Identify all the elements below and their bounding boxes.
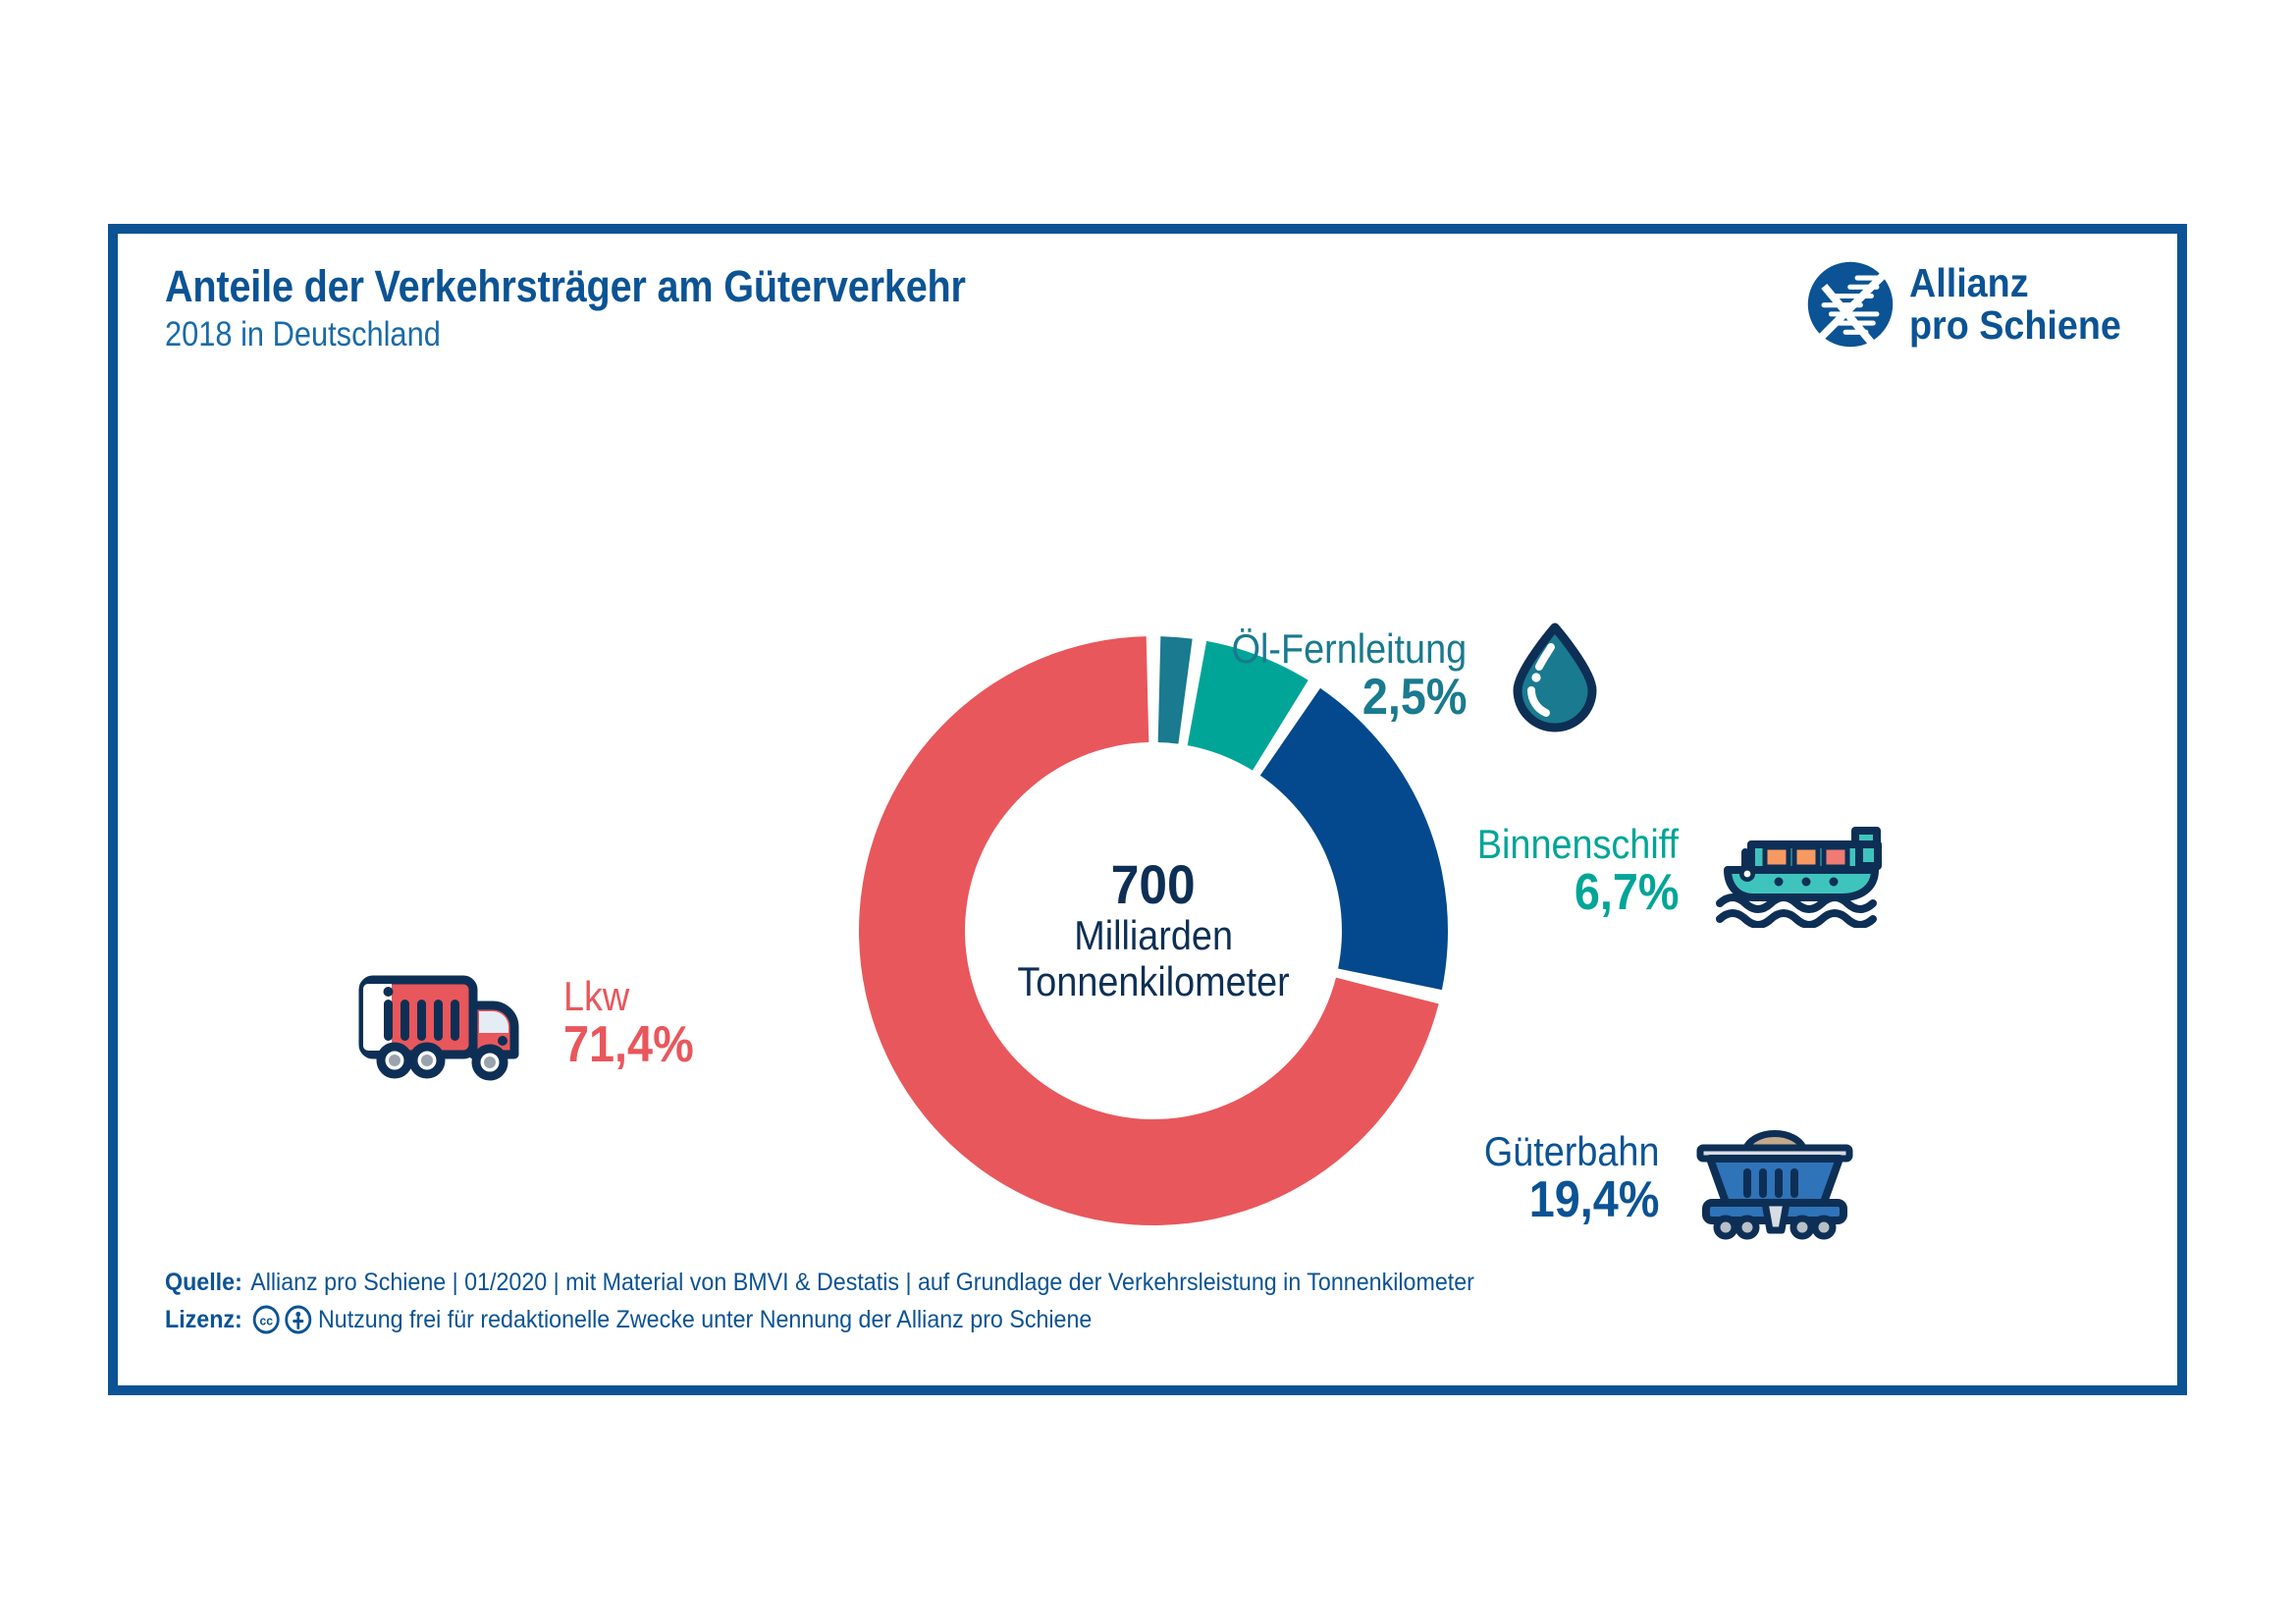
callout-rail-percent: 19,4% xyxy=(1529,1174,1660,1226)
callout-oil-label: Öl-Fernleitung xyxy=(1232,628,1467,671)
brand-wordmark: Allianz pro Schiene xyxy=(1909,262,2121,346)
infographic-card: Anteile der Verkehrsträger am Güterverke… xyxy=(108,224,2187,1395)
callout-ship-text: Binnenschiff 6,7% xyxy=(1455,824,1679,920)
callout-oil-fernleitung: Öl-Fernleitung 2,5% xyxy=(1205,620,1607,732)
footer-source-key: Quelle: xyxy=(165,1265,242,1302)
donut-slice-g-terbahn[interactable] xyxy=(1260,688,1448,990)
footer-license-badges: cc xyxy=(252,1305,311,1334)
callout-rail-label: Güterbahn xyxy=(1484,1131,1660,1173)
callout-rail-text: Güterbahn 19,4% xyxy=(1465,1131,1659,1227)
barge-ship-icon xyxy=(1708,815,1890,928)
oil-drop-icon xyxy=(1504,620,1607,732)
donut-slice--l-fernleitung[interactable] xyxy=(1158,636,1193,744)
footer-license-key: Lizenz: xyxy=(165,1302,242,1339)
footer-source-value: Allianz pro Schiene | 01/2020 | mit Mate… xyxy=(250,1265,1474,1302)
callout-truck-label: Lkw xyxy=(563,976,629,1018)
callout-binnenschiff: Binnenschiff 6,7% xyxy=(1455,815,1890,928)
callout-ship-percent: 6,7% xyxy=(1574,867,1679,919)
brand-logo: Allianz pro Schiene xyxy=(1805,259,2140,350)
cc-icon: cc xyxy=(252,1305,280,1334)
callout-oil-percent: 2,5% xyxy=(1362,672,1467,724)
footer-license-row: Lizenz: cc Nutzung frei für redaktionell… xyxy=(165,1302,2000,1339)
callout-gueterbahn: Güterbahn 19,4% xyxy=(1465,1112,1860,1245)
callout-truck-percent: 71,4% xyxy=(563,1019,694,1071)
svg-text:cc: cc xyxy=(259,1314,272,1327)
callout-oil-text: Öl-Fernleitung 2,5% xyxy=(1205,628,1467,725)
footer-license-value: Nutzung frei für redaktionelle Zwecke un… xyxy=(318,1302,1092,1339)
allianz-pro-schiene-emblem-icon xyxy=(1805,259,1896,350)
callout-truck-text: Lkw 71,4% xyxy=(563,976,708,1072)
truck-icon xyxy=(353,962,530,1085)
page-subtitle: 2018 in Deutschland xyxy=(165,317,1901,353)
footer: Quelle: Allianz pro Schiene | 01/2020 | … xyxy=(165,1265,2138,1338)
page-title: Anteile der Verkehrsträger am Güterverke… xyxy=(165,263,1901,309)
brand-wordmark-line1: Allianz xyxy=(1909,262,2121,304)
brand-wordmark-line2: pro Schiene xyxy=(1909,304,2121,347)
callout-lkw: Lkw 71,4% xyxy=(353,962,708,1085)
freight-wagon-icon xyxy=(1688,1112,1860,1245)
cc-by-attribution-icon xyxy=(285,1305,312,1334)
footer-source-row: Quelle: Allianz pro Schiene | 01/2020 | … xyxy=(165,1265,2000,1302)
callout-ship-label: Binnenschiff xyxy=(1477,824,1679,866)
